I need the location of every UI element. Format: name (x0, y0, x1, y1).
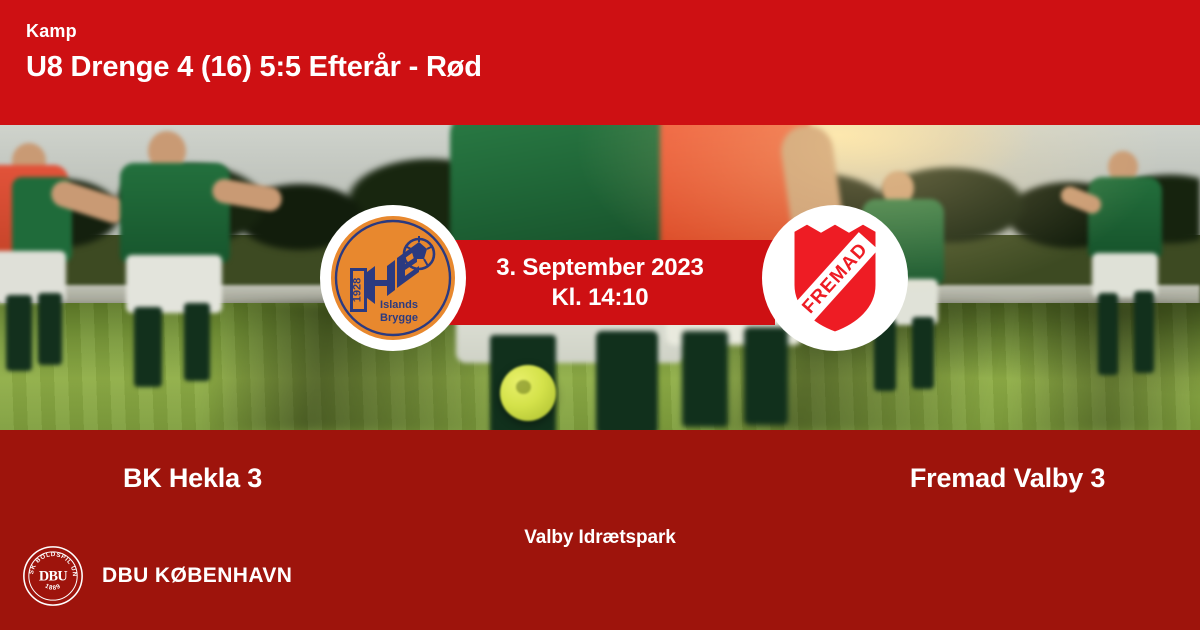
svg-text:Brygge: Brygge (380, 312, 418, 324)
svg-text:Islands: Islands (380, 299, 418, 311)
svg-text:DBU: DBU (39, 568, 68, 584)
home-team-crest: 1928 Islands Brygge (320, 205, 466, 351)
page-title: U8 Drenge 4 (16) 5:5 Efterår - Rød (26, 52, 1200, 84)
footer: DANSK BOLDSPIL UNION 1889 DBU DBU KØBENH… (22, 545, 292, 607)
away-team-name: Fremad Valby 3 (600, 463, 1200, 494)
header-bar: Kamp U8 Drenge 4 (16) 5:5 Efterår - Rød (0, 0, 1200, 125)
photo-player-green-left (92, 131, 282, 381)
match-date: 3. September 2023 (496, 253, 703, 282)
photo-player-far-right (1064, 151, 1194, 391)
away-team-crest: FREMAD (762, 205, 908, 351)
bk-hekla-crest-icon: 1928 Islands Brygge (329, 214, 457, 342)
footer-organization: DBU KØBENHAVN (102, 564, 292, 588)
svg-text:1928: 1928 (352, 278, 364, 302)
dbu-badge-icon: DANSK BOLDSPIL UNION 1889 DBU (22, 545, 84, 607)
fremad-valby-crest-icon: FREMAD (779, 217, 891, 339)
match-time: Kl. 14:10 (552, 283, 649, 312)
match-datetime-banner: 3. September 2023 Kl. 14:10 (425, 240, 775, 325)
photo-football (500, 365, 556, 421)
match-graphic-card: Kamp U8 Drenge 4 (16) 5:5 Efterår - Rød (0, 0, 1200, 630)
match-kind-label: Kamp (26, 22, 1200, 40)
team-names-row: BK Hekla 3 Fremad Valby 3 (0, 463, 1200, 494)
home-team-name: BK Hekla 3 (0, 463, 600, 494)
photo-player-left-bib (0, 143, 102, 373)
